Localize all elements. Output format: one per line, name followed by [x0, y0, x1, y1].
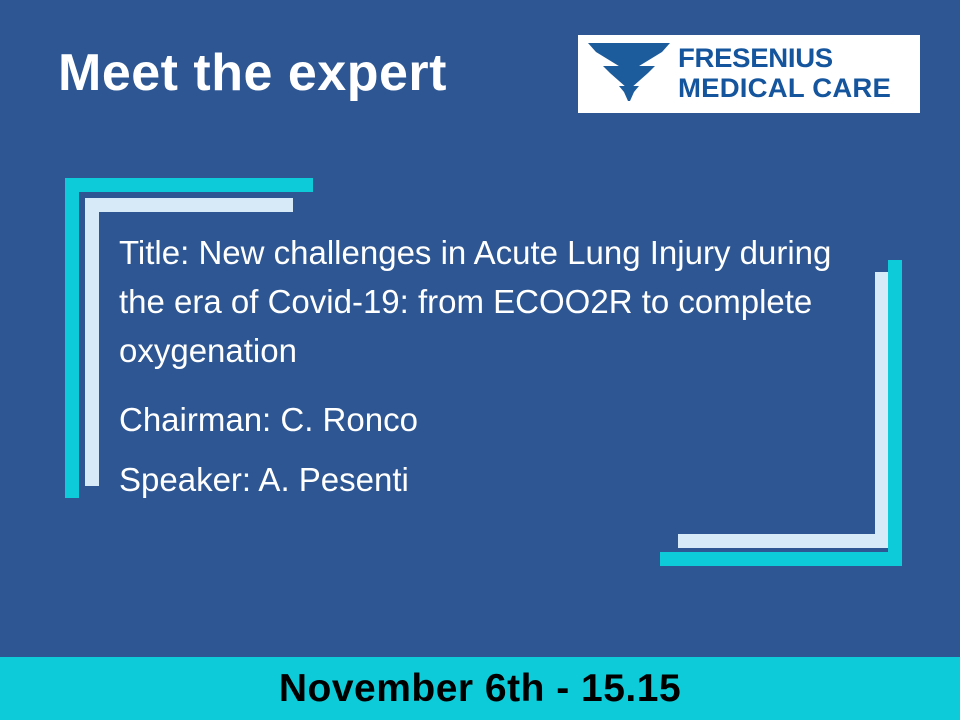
talk-title-text: Title: New challenges in Acute Lung Inju… [119, 228, 849, 375]
fresenius-chevrons-icon [586, 39, 672, 109]
speaker-text: Speaker: A. Pesenti [119, 455, 859, 504]
frame-top-left-pale-horizontal [85, 198, 293, 212]
frame-bottom-right-pale-horizontal [678, 534, 884, 548]
frame-bottom-right-pale-vertical [875, 272, 889, 548]
slide-body: Title: New challenges in Acute Lung Inju… [119, 228, 859, 504]
frame-top-left-cyan-horizontal [65, 178, 313, 192]
event-datetime-text: November 6th - 15.15 [279, 667, 681, 711]
fresenius-medical-care-logo: FRESENIUS MEDICAL CARE [578, 35, 920, 113]
footer-banner: November 6th - 15.15 [0, 657, 960, 720]
logo-line-medical-care: MEDICAL CARE [678, 73, 920, 103]
frame-bottom-right-cyan-horizontal [660, 552, 902, 566]
chairman-text: Chairman: C. Ronco [119, 395, 859, 444]
logo-wordmark: FRESENIUS MEDICAL CARE [678, 43, 920, 103]
frame-bottom-right-cyan-vertical [888, 260, 902, 566]
frame-top-left-cyan-vertical [65, 178, 79, 498]
page-title: Meet the expert [58, 47, 447, 99]
presentation-slide: Meet the expert FRESENIUS MEDICAL CARE T… [0, 0, 960, 720]
logo-line-fresenius: FRESENIUS [678, 43, 920, 73]
frame-top-left-pale-vertical [85, 198, 99, 486]
